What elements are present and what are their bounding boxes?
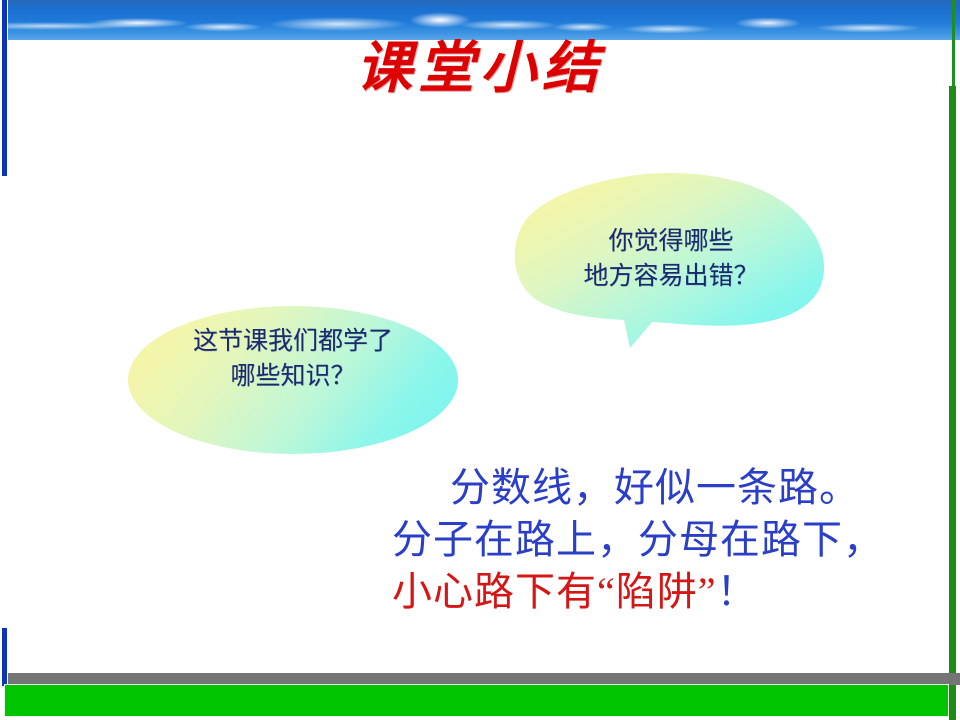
verse-line-3: 小心路下有“陷阱”！	[392, 566, 952, 618]
verse-line-3-text: 小心路下有“陷阱”	[392, 569, 717, 614]
sky-clouds-banner	[8, 0, 960, 40]
left-blue-accent-line-lower	[2, 628, 7, 686]
speech-bubble-cloud-label: 你觉得哪些 地方容易出错？	[524, 224, 818, 294]
verse-line-1: 分数线，好似一条路。	[392, 462, 952, 514]
slide-title: 课堂小结	[0, 36, 960, 102]
verse-block: 分数线，好似一条路。 分子在路上，分母在路下， 小心路下有“陷阱”！	[392, 462, 952, 618]
verse-line-3-exclamation: ！	[717, 569, 758, 614]
verse-line-2: 分子在路上，分母在路下，	[392, 514, 952, 566]
right-green-accent-line-thick	[949, 86, 956, 720]
bottom-green-bar	[4, 684, 949, 717]
slide-canvas: 课堂小结 这节课我们都学了 哪些知识？ 你觉得哪些 地方容易出错？ 分数线，好似…	[0, 0, 960, 720]
speech-bubble-ellipse-label: 这节课我们都学了 哪些知识？	[138, 324, 448, 394]
